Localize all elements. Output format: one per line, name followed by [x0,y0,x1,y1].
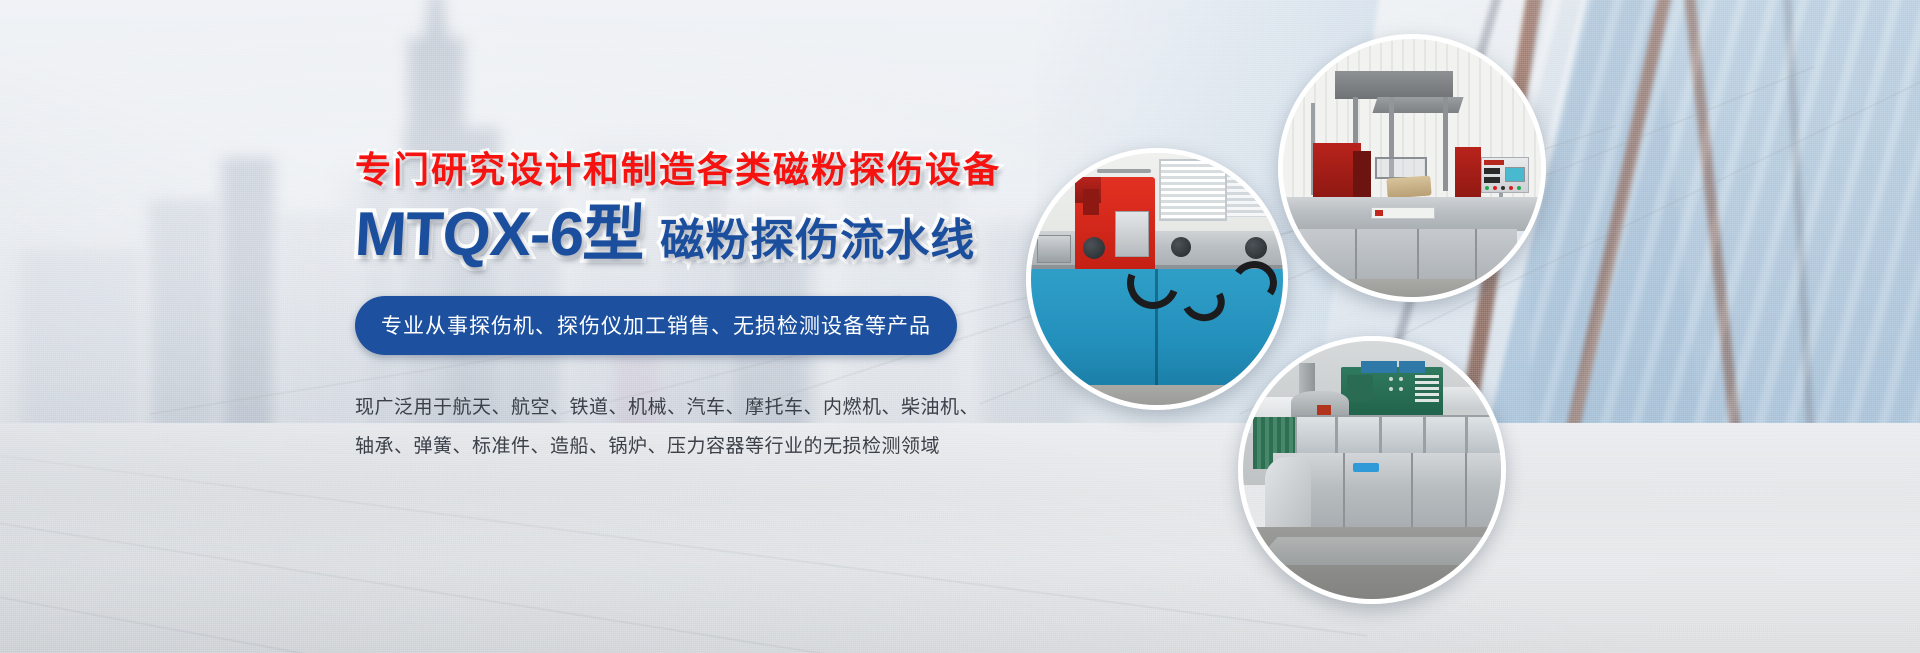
banner-title-row: MTQX-6型 磁粉探伤流水线 [355,204,1015,266]
application-paragraph: 现广泛用于航天、航空、铁道、机械、汽车、摩托车、内燃机、柴油机、 轴承、弹簧、标… [355,389,1015,467]
banner-headline: 专门研究设计和制造各类磁粉探伤设备 [355,150,1015,190]
photo-long-production-line[interactable] [1238,336,1506,604]
application-line-2: 轴承、弹簧、标准件、造船、锅炉、压力容器等行业的无损检测领域 [355,428,1015,467]
banner-copy-block: 专门研究设计和制造各类磁粉探伤设备 MTQX-6型 磁粉探伤流水线 专业从事探伤… [355,150,1015,466]
product-model-title: MTQX-6型 [353,204,645,266]
product-name-title: 磁粉探伤流水线 [660,219,975,263]
service-pill-badge[interactable]: 专业从事探伤机、探伤仪加工销售、无损检测设备等产品 [355,296,957,355]
photo-inspection-line-with-control-panel[interactable] [1278,34,1546,302]
application-line-1: 现广泛用于航天、航空、铁道、机械、汽车、摩托车、内燃机、柴油机、 [355,389,1015,428]
promo-banner: 专门研究设计和制造各类磁粉探伤设备 MTQX-6型 磁粉探伤流水线 专业从事探伤… [0,0,1920,653]
